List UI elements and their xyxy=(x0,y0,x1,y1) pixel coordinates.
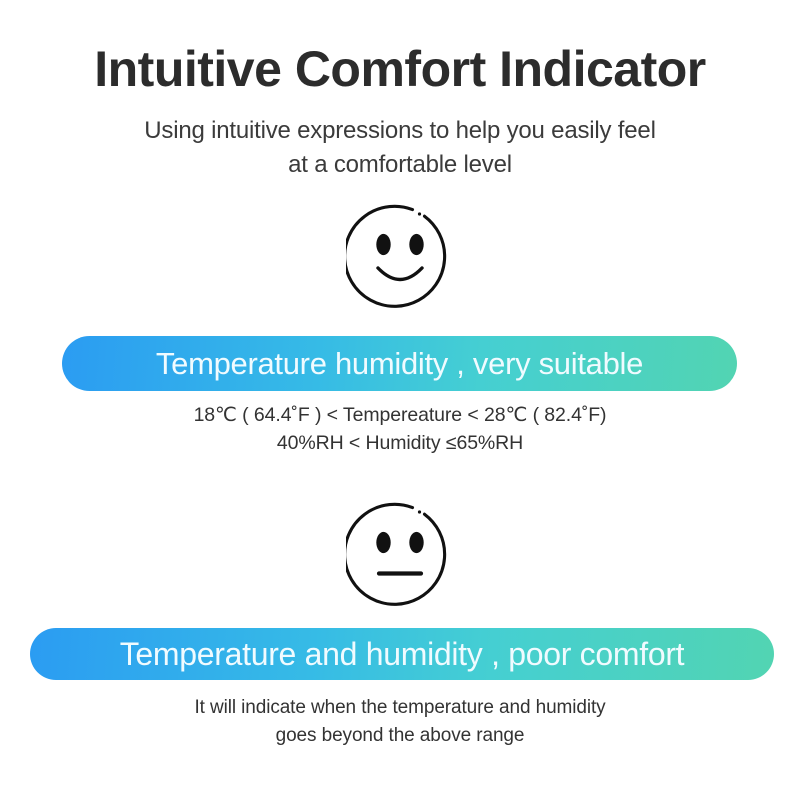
page-title: Intuitive Comfort Indicator xyxy=(0,44,800,94)
comfort-good-range: 18℃ ( 64.4˚F ) < Tempereature < 28℃ ( 82… xyxy=(0,402,800,457)
page-subtitle-line-1: Using intuitive expressions to help you … xyxy=(0,114,800,148)
comfort-good-range-temperature: 18℃ ( 64.4˚F ) < Tempereature < 28℃ ( 82… xyxy=(0,402,800,430)
page-subtitle-line-2: at a comfortable level xyxy=(0,148,800,182)
comfort-poor-caption-line-2: goes beyond the above range xyxy=(0,722,800,750)
comfort-good-banner-label: Temperature humidity , very suitable xyxy=(156,348,643,379)
comfort-indicator-page: Intuitive Comfort Indicator Using intuit… xyxy=(0,0,800,800)
page-subtitle: Using intuitive expressions to help you … xyxy=(0,114,800,182)
smiley-happy-face-icon xyxy=(346,204,454,312)
comfort-poor-caption: It will indicate when the temperature an… xyxy=(0,694,800,749)
comfort-poor-banner: Temperature and humidity , poor comfort xyxy=(30,628,774,680)
smiley-neutral-face-icon xyxy=(346,502,454,610)
comfort-good-range-humidity: 40%RH < Humidity ≤65%RH xyxy=(0,430,800,458)
comfort-good-banner: Temperature humidity , very suitable xyxy=(62,336,737,391)
comfort-poor-caption-line-1: It will indicate when the temperature an… xyxy=(0,694,800,722)
comfort-poor-banner-label: Temperature and humidity , poor comfort xyxy=(120,638,685,670)
